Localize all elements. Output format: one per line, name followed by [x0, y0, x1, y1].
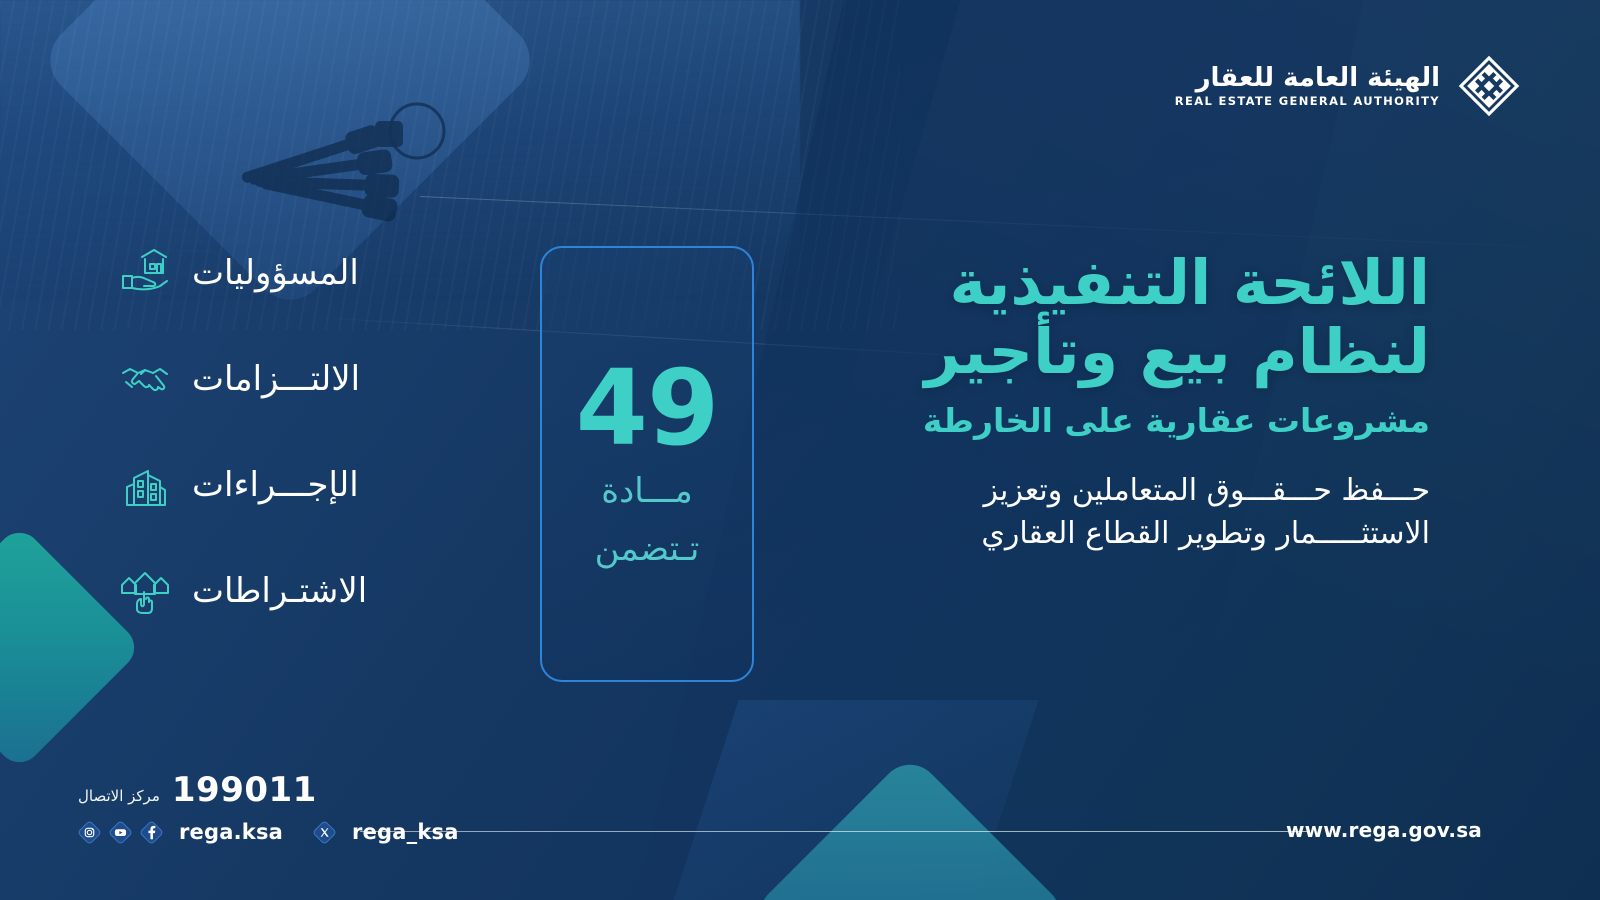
x-twitter-badge-icon[interactable] — [313, 821, 336, 844]
list-item-label: الالتـــزامات — [192, 359, 360, 399]
page-description-line-2: الاستثـــــمار وتطوير القطاع العقاري — [830, 513, 1430, 556]
list-item: المسؤوليات — [120, 248, 490, 298]
page-title: اللائحة التنفيذية لنظام بيع وتأجير — [830, 248, 1430, 387]
article-count-card: 49 مـــادة تـتضمن — [540, 246, 754, 682]
youtube-badge-icon[interactable] — [109, 821, 132, 844]
social-handle-x[interactable]: rega_ksa — [352, 820, 459, 844]
decorative-hairline — [420, 196, 1599, 251]
rega-diamond-emblem-icon — [1458, 55, 1520, 117]
brand-logo-text: الهيئة العامة للعقار REAL ESTATE GENERAL… — [1175, 65, 1440, 108]
title-block: اللائحة التنفيذية لنظام بيع وتأجير مشروع… — [830, 248, 1430, 556]
keyring-photo-icon — [225, 95, 465, 235]
page-title-line-1: اللائحة التنفيذية — [830, 248, 1430, 317]
website-url[interactable]: www.rega.gov.sa — [1286, 818, 1482, 842]
list-item: الاشتـراطات — [120, 566, 490, 616]
article-count-number: 49 — [576, 359, 719, 458]
instagram-badge-icon[interactable] — [78, 821, 101, 844]
list-item-label: الإجـــراءات — [192, 465, 359, 505]
social-links: rega.ksa rega_ksa — [78, 820, 463, 844]
office-buildings-icon — [120, 460, 170, 510]
topics-list: المسؤوليات الالتـــزامات — [120, 248, 490, 616]
hand-holding-house-icon — [120, 248, 170, 298]
list-item-label: الاشتـراطات — [192, 571, 367, 611]
infographic-canvas: الهيئة العامة للعقار REAL ESTATE GENERAL… — [0, 0, 1600, 900]
footer: 199011 مركز الاتصال — [0, 740, 1600, 900]
social-handle-primary[interactable]: rega.ksa — [179, 820, 283, 844]
list-item: الإجـــراءات — [120, 460, 490, 510]
brand-logo: الهيئة العامة للعقار REAL ESTATE GENERAL… — [1175, 55, 1520, 117]
article-count-unit: مـــادة — [601, 471, 692, 511]
page-title-line-2: لنظام بيع وتأجير — [830, 317, 1430, 386]
contact-number: 199011 — [172, 770, 317, 810]
hand-pointing-houses-icon — [120, 566, 170, 616]
list-item: الالتـــزامات — [120, 354, 490, 404]
handshake-icon — [120, 354, 170, 404]
list-item-label: المسؤوليات — [192, 253, 359, 293]
brand-name-arabic: الهيئة العامة للعقار — [1175, 65, 1440, 91]
contact-label: مركز الاتصال — [78, 787, 160, 805]
page-description-line-1: حـــفظ حـــقـــوق المتعاملين وتعزيز — [830, 470, 1430, 513]
brand-name-english: REAL ESTATE GENERAL AUTHORITY — [1175, 96, 1440, 108]
footer-divider — [360, 831, 1310, 832]
page-description: حـــفظ حـــقـــوق المتعاملين وتعزيز الاس… — [830, 470, 1430, 555]
page-subtitle: مشروعات عقارية على الخارطة — [830, 401, 1430, 441]
article-count-verb: تـتضمن — [595, 529, 700, 569]
facebook-badge-icon[interactable] — [140, 821, 163, 844]
contact-center: 199011 مركز الاتصال — [78, 770, 317, 810]
